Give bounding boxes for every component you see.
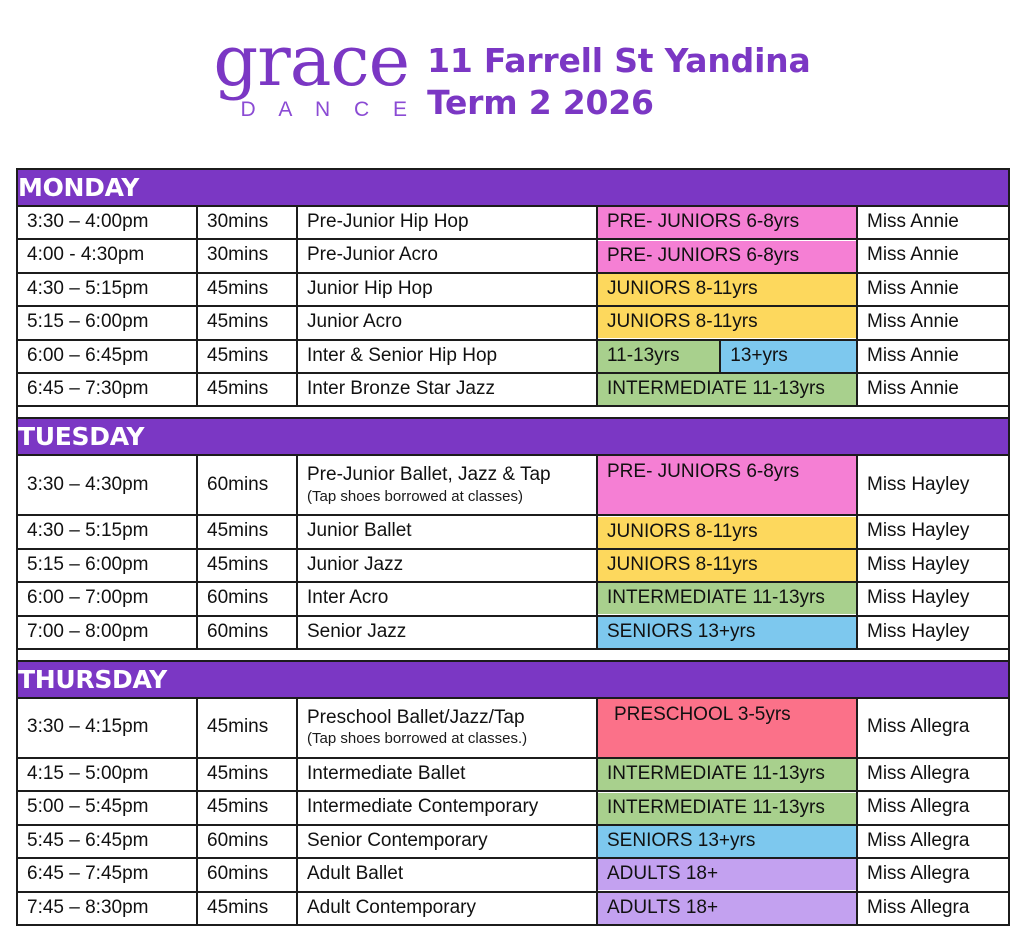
schedule-table-wrap: MONDAY3:30 – 4:00pm30minsPre-Junior Hip … [16,168,1008,926]
day-header-tuesday: TUESDAY [17,418,1009,455]
teacher-name: Miss Allegra [857,858,1009,891]
class-name: Junior Jazz [297,549,597,582]
class-duration: 45mins [197,515,297,548]
class-name-text: Inter Acro [298,583,596,614]
level-badge: 11-13yrs [598,341,719,372]
day-name: THURSDAY [18,665,167,694]
class-duration-text: 60mins [198,859,296,890]
class-time: 5:45 – 6:45pm [17,825,197,858]
class-name: Senior Jazz [297,616,597,649]
class-name: Junior Ballet [297,515,597,548]
class-name-text: Pre-Junior Acro [298,240,596,271]
table-row: 3:30 – 4:00pm30minsPre-Junior Hip HopPRE… [17,206,1009,239]
level-badge: INTERMEDIATE 11-13yrs [598,374,856,405]
table-row: 6:45 – 7:45pm60minsAdult BalletADULTS 18… [17,858,1009,891]
class-time: 3:30 – 4:30pm [17,455,197,515]
class-duration: 30mins [197,206,297,239]
teacher-name: Miss Annie [857,206,1009,239]
class-time-text: 6:00 – 6:45pm [18,341,196,372]
class-duration-text: 60mins [198,583,296,614]
class-time: 5:00 – 5:45pm [17,791,197,824]
class-duration-text: 45mins [198,712,296,743]
level-badge-cell: ADULTS 18+ [597,892,857,925]
class-time: 6:45 – 7:45pm [17,858,197,891]
class-name-text: Inter Bronze Star Jazz [298,374,596,405]
level-badge-cell: ADULTS 18+ [597,858,857,891]
table-row: 6:00 – 6:45pm45minsInter & Senior Hip Ho… [17,340,1009,373]
class-name-text: Junior Acro [298,307,596,338]
class-duration: 60mins [197,616,297,649]
level-badge-cell: JUNIORS 8-11yrs [597,549,857,582]
level-badge: 13+yrs [719,341,856,372]
class-duration: 45mins [197,306,297,339]
level-badge-cell: PRE- JUNIORS 6-8yrs [597,206,857,239]
class-duration: 45mins [197,698,297,758]
class-name-text: Adult Contemporary [298,893,596,924]
level-badge: JUNIORS 8-11yrs [598,274,856,305]
level-badge-cell: 11-13yrs13+yrs [597,340,857,373]
class-time: 3:30 – 4:00pm [17,206,197,239]
day-header-monday: MONDAY [17,169,1009,206]
teacher-name: Miss Annie [857,340,1009,373]
class-duration-text: 60mins [198,826,296,857]
section-spacer [17,406,1009,418]
class-time-text: 4:15 – 5:00pm [18,759,196,790]
studio-logo: grace D A N C E [213,28,409,120]
level-badge-split: 11-13yrs13+yrs [598,341,856,372]
page-header: grace D A N C E 11 Farrell St Yandina Te… [0,0,1024,130]
teacher-name: Miss Allegra [857,758,1009,791]
class-time-text: 5:15 – 6:00pm [18,550,196,581]
teacher-name-text: Miss Annie [858,274,1008,305]
class-duration: 45mins [197,340,297,373]
class-duration: 30mins [197,239,297,272]
class-duration: 45mins [197,273,297,306]
class-name-text: Inter & Senior Hip Hop [298,341,596,372]
class-name: Inter & Senior Hip Hop [297,340,597,373]
level-badge-cell: PRE- JUNIORS 6-8yrs [597,455,857,515]
class-time-text: 7:45 – 8:30pm [18,893,196,924]
class-duration-text: 45mins [198,374,296,405]
class-time-text: 3:30 – 4:00pm [18,207,196,238]
teacher-name-text: Miss Allegra [858,859,1008,890]
table-row: 6:45 – 7:30pm45minsInter Bronze Star Jaz… [17,373,1009,406]
level-badge: PRESCHOOL 3-5yrs [598,699,856,757]
class-duration: 45mins [197,373,297,406]
class-name: Junior Acro [297,306,597,339]
class-time: 4:30 – 5:15pm [17,273,197,306]
table-row: 4:00 - 4:30pm30minsPre-Junior AcroPRE- J… [17,239,1009,272]
term-label: Term 2 2026 [427,82,811,124]
table-row: 3:30 – 4:30pm60minsPre-Junior Ballet, Ja… [17,455,1009,515]
class-name-text: Adult Ballet [298,859,596,890]
level-badge: INTERMEDIATE 11-13yrs [598,793,856,824]
schedule-table: MONDAY3:30 – 4:00pm30minsPre-Junior Hip … [16,168,1010,926]
day-name: TUESDAY [18,422,144,451]
class-time: 6:45 – 7:30pm [17,373,197,406]
teacher-name: Miss Allegra [857,825,1009,858]
class-name: Senior Contemporary [297,825,597,858]
logo-wordmark: grace [213,28,409,95]
teacher-name-text: Miss Allegra [858,712,1008,743]
class-time: 3:30 – 4:15pm [17,698,197,758]
logo-subtext: D A N C E [241,99,419,120]
day-header-cell: MONDAY [17,169,1009,206]
level-badge: PRE- JUNIORS 6-8yrs [598,456,856,514]
table-row: 4:15 – 5:00pm45minsIntermediate BalletIN… [17,758,1009,791]
class-time: 7:45 – 8:30pm [17,892,197,925]
class-duration: 60mins [197,858,297,891]
day-name: MONDAY [18,173,139,202]
teacher-name-text: Miss Annie [858,341,1008,372]
class-time-text: 7:00 – 8:00pm [18,617,196,648]
class-duration: 45mins [197,791,297,824]
class-duration-text: 60mins [198,470,296,501]
class-duration-text: 45mins [198,307,296,338]
teacher-name-text: Miss Hayley [858,617,1008,648]
day-header-cell: TUESDAY [17,418,1009,455]
timetable-page: grace D A N C E 11 Farrell St Yandina Te… [0,0,1024,904]
class-name: Preschool Ballet/Jazz/Tap(Tap shoes borr… [297,698,597,758]
teacher-name: Miss Hayley [857,455,1009,515]
class-time-text: 4:00 - 4:30pm [18,240,196,271]
class-name-text: Intermediate Ballet [298,759,596,790]
level-badge-cell: SENIORS 13+yrs [597,825,857,858]
teacher-name-text: Miss Hayley [858,550,1008,581]
teacher-name: Miss Allegra [857,791,1009,824]
class-time: 7:00 – 8:00pm [17,616,197,649]
class-time-text: 4:30 – 5:15pm [18,516,196,547]
class-time-text: 5:00 – 5:45pm [18,792,196,823]
level-badge-cell: JUNIORS 8-11yrs [597,515,857,548]
teacher-name: Miss Allegra [857,892,1009,925]
teacher-name-text: Miss Allegra [858,792,1008,823]
class-time-text: 4:30 – 5:15pm [18,274,196,305]
level-badge: PRE- JUNIORS 6-8yrs [598,241,856,272]
teacher-name-text: Miss Hayley [858,516,1008,547]
table-row: 5:15 – 6:00pm45minsJunior AcroJUNIORS 8-… [17,306,1009,339]
class-name: Inter Acro [297,582,597,615]
table-row: 4:30 – 5:15pm45minsJunior BalletJUNIORS … [17,515,1009,548]
teacher-name: Miss Hayley [857,582,1009,615]
class-note: (Tap shoes borrowed at classes) [307,488,588,506]
class-name-text: Senior Jazz [298,617,596,648]
teacher-name: Miss Hayley [857,616,1009,649]
table-row: 5:45 – 6:45pm60minsSenior ContemporarySE… [17,825,1009,858]
class-duration: 45mins [197,758,297,791]
level-badge: ADULTS 18+ [598,859,856,890]
teacher-name-text: Miss Annie [858,307,1008,338]
level-badge-cell: JUNIORS 8-11yrs [597,306,857,339]
teacher-name: Miss Hayley [857,515,1009,548]
teacher-name-text: Miss Hayley [858,470,1008,501]
class-time: 5:15 – 6:00pm [17,549,197,582]
class-duration-text: 60mins [198,617,296,648]
level-badge-cell: JUNIORS 8-11yrs [597,273,857,306]
class-time-text: 3:30 – 4:30pm [18,470,196,501]
class-duration-text: 45mins [198,516,296,547]
level-badge: INTERMEDIATE 11-13yrs [598,583,856,614]
teacher-name-text: Miss Annie [858,374,1008,405]
class-name: Adult Contemporary [297,892,597,925]
class-name: Pre-Junior Ballet, Jazz & Tap(Tap shoes … [297,455,597,515]
teacher-name-text: Miss Annie [858,207,1008,238]
level-badge: SENIORS 13+yrs [598,826,856,857]
day-header-cell: THURSDAY [17,661,1009,698]
level-badge: ADULTS 18+ [598,893,856,924]
class-duration: 60mins [197,455,297,515]
table-row: 5:00 – 5:45pm45minsIntermediate Contempo… [17,791,1009,824]
class-name: Adult Ballet [297,858,597,891]
class-note: (Tap shoes borrowed at classes.) [307,730,588,748]
teacher-name: Miss Annie [857,273,1009,306]
teacher-name-text: Miss Allegra [858,893,1008,924]
teacher-name-text: Miss Allegra [858,759,1008,790]
section-spacer [17,649,1009,661]
class-time: 5:15 – 6:00pm [17,306,197,339]
level-badge: JUNIORS 8-11yrs [598,517,856,548]
level-badge-cell: INTERMEDIATE 11-13yrs [597,791,857,824]
class-duration-text: 45mins [198,341,296,372]
table-row: 5:15 – 6:00pm45minsJunior JazzJUNIORS 8-… [17,549,1009,582]
level-badge: JUNIORS 8-11yrs [598,550,856,581]
teacher-name: Miss Annie [857,373,1009,406]
teacher-name: Miss Allegra [857,698,1009,758]
teacher-name-text: Miss Hayley [858,583,1008,614]
class-name: Pre-Junior Acro [297,239,597,272]
class-name-text: Preschool Ballet/Jazz/Tap(Tap shoes borr… [298,703,596,753]
class-duration-text: 30mins [198,240,296,271]
class-name-text: Junior Hip Hop [298,274,596,305]
class-time-text: 6:00 – 7:00pm [18,583,196,614]
class-name: Inter Bronze Star Jazz [297,373,597,406]
teacher-name: Miss Annie [857,306,1009,339]
teacher-name-text: Miss Annie [858,240,1008,271]
level-badge: JUNIORS 8-11yrs [598,307,856,338]
header-title-block: 11 Farrell St Yandina Term 2 2026 [427,28,811,124]
class-name: Intermediate Contemporary [297,791,597,824]
level-badge-cell: PRE- JUNIORS 6-8yrs [597,239,857,272]
class-name-text: Pre-Junior Ballet, Jazz & Tap(Tap shoes … [298,460,596,510]
spacer-cell [17,649,1009,661]
class-time: 6:00 – 6:45pm [17,340,197,373]
studio-address: 11 Farrell St Yandina [427,40,811,82]
class-time-text: 5:15 – 6:00pm [18,307,196,338]
level-badge-cell: INTERMEDIATE 11-13yrs [597,373,857,406]
class-duration: 45mins [197,892,297,925]
class-name-text: Junior Jazz [298,550,596,581]
class-time-text: 5:45 – 6:45pm [18,826,196,857]
spacer-cell [17,406,1009,418]
class-name: Pre-Junior Hip Hop [297,206,597,239]
class-time-text: 3:30 – 4:15pm [18,712,196,743]
class-duration-text: 45mins [198,759,296,790]
class-time: 4:00 - 4:30pm [17,239,197,272]
class-duration: 60mins [197,582,297,615]
teacher-name-text: Miss Allegra [858,826,1008,857]
day-header-thursday: THURSDAY [17,661,1009,698]
class-name-text: Senior Contemporary [298,826,596,857]
class-time-text: 6:45 – 7:45pm [18,859,196,890]
level-badge: SENIORS 13+yrs [598,617,856,648]
class-duration-text: 30mins [198,207,296,238]
class-name: Junior Hip Hop [297,273,597,306]
table-row: 4:30 – 5:15pm45minsJunior Hip HopJUNIORS… [17,273,1009,306]
table-row: 7:00 – 8:00pm60minsSenior JazzSENIORS 13… [17,616,1009,649]
class-duration: 45mins [197,549,297,582]
level-badge-cell: PRESCHOOL 3-5yrs [597,698,857,758]
level-badge-cell: INTERMEDIATE 11-13yrs [597,758,857,791]
level-badge: PRE- JUNIORS 6-8yrs [598,207,856,238]
class-name-text: Junior Ballet [298,516,596,547]
class-duration-text: 45mins [198,893,296,924]
class-time: 4:30 – 5:15pm [17,515,197,548]
class-name: Intermediate Ballet [297,758,597,791]
class-time: 4:15 – 5:00pm [17,758,197,791]
class-name-text: Intermediate Contemporary [298,792,596,823]
table-row: 6:00 – 7:00pm60minsInter AcroINTERMEDIAT… [17,582,1009,615]
class-time: 6:00 – 7:00pm [17,582,197,615]
class-duration-text: 45mins [198,274,296,305]
table-row: 7:45 – 8:30pm45minsAdult ContemporaryADU… [17,892,1009,925]
class-duration-text: 45mins [198,550,296,581]
table-row: 3:30 – 4:15pm45minsPreschool Ballet/Jazz… [17,698,1009,758]
level-badge-cell: SENIORS 13+yrs [597,616,857,649]
class-time-text: 6:45 – 7:30pm [18,374,196,405]
teacher-name: Miss Annie [857,239,1009,272]
class-duration: 60mins [197,825,297,858]
class-duration-text: 45mins [198,792,296,823]
level-badge: INTERMEDIATE 11-13yrs [598,759,856,790]
level-badge-cell: INTERMEDIATE 11-13yrs [597,582,857,615]
class-name-text: Pre-Junior Hip Hop [298,207,596,238]
teacher-name: Miss Hayley [857,549,1009,582]
